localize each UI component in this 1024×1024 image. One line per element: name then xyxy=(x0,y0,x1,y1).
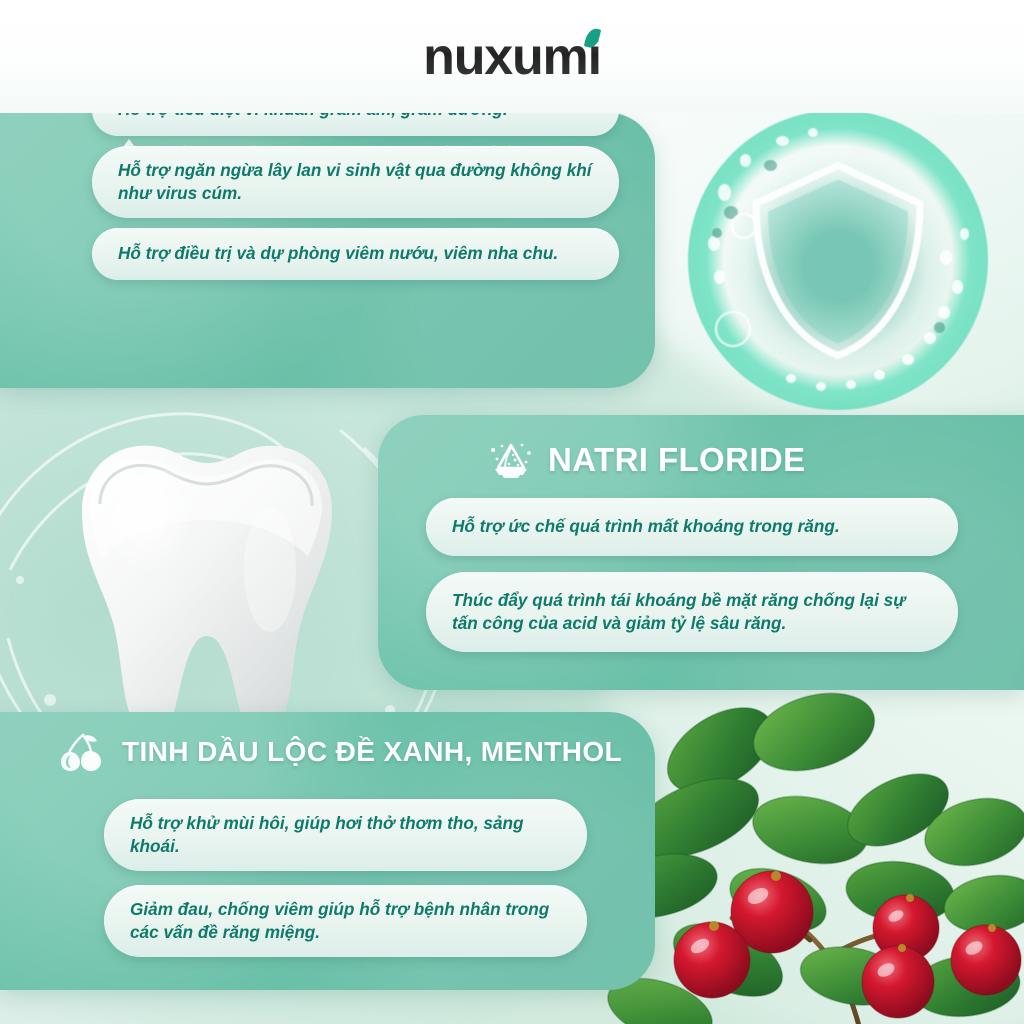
bullet-text: Hỗ trợ điều trị và dự phòng viêm nướu, v… xyxy=(118,242,558,265)
section-title-label: NATRI FLORIDE xyxy=(548,441,806,479)
bullet-pill: Hỗ trợ ngăn ngừa lây lan vi sinh vật qua… xyxy=(92,146,619,218)
bullet-pill: Thúc đẩy quá trình tái khoáng bề mặt răn… xyxy=(426,572,958,652)
brand-logo-text: nuxumi xyxy=(423,31,601,83)
section-title-natri-floride: NATRI FLORIDE xyxy=(488,437,806,483)
shield-icon xyxy=(744,158,932,363)
bullet-text: Hỗ trợ ức chế quá trình mất khoáng trong… xyxy=(452,515,840,538)
shield-bubble-decoration xyxy=(688,110,988,410)
bullet-text: Hỗ trợ ngăn ngừa lây lan vi sinh vật qua… xyxy=(118,159,593,205)
bullet-pill: Hỗ trợ khử mùi hôi, giúp hơi thở thơm th… xyxy=(104,799,587,871)
bullet-pill: Giảm đau, chống viêm giúp hỗ trợ bệnh nh… xyxy=(104,885,587,957)
header-bar: nuxumi xyxy=(0,0,1024,113)
brand-logo: nuxumi xyxy=(423,31,601,83)
bubble-circle-large xyxy=(710,306,756,352)
bullet-pill: Hỗ trợ điều trị và dự phòng viêm nướu, v… xyxy=(92,228,619,280)
wintergreen-plant-illustration xyxy=(600,690,1024,1024)
infographic-canvas: CHLORHEXIDIN 0.12% Hỗ trợ tiêu diệt vi k… xyxy=(0,0,1024,1024)
tooth-illustration xyxy=(42,420,372,750)
bubble-circle-small xyxy=(724,206,764,246)
bullet-text: Hỗ trợ khử mùi hôi, giúp hơi thở thơm th… xyxy=(130,812,561,858)
cherry-berry-icon xyxy=(58,730,108,774)
bullet-text: Thúc đẩy quá trình tái khoáng bề mặt răn… xyxy=(452,589,932,635)
salt-mound-icon xyxy=(488,437,534,483)
section-title-label: TINH DẦU LỘC ĐỀ XANH, MENTHOL xyxy=(122,736,622,768)
section-title-menthol: TINH DẦU LỘC ĐỀ XANH, MENTHOL xyxy=(58,730,622,774)
bullet-pill: Hỗ trợ ức chế quá trình mất khoáng trong… xyxy=(426,498,958,556)
bullet-text: Giảm đau, chống viêm giúp hỗ trợ bệnh nh… xyxy=(130,898,561,944)
